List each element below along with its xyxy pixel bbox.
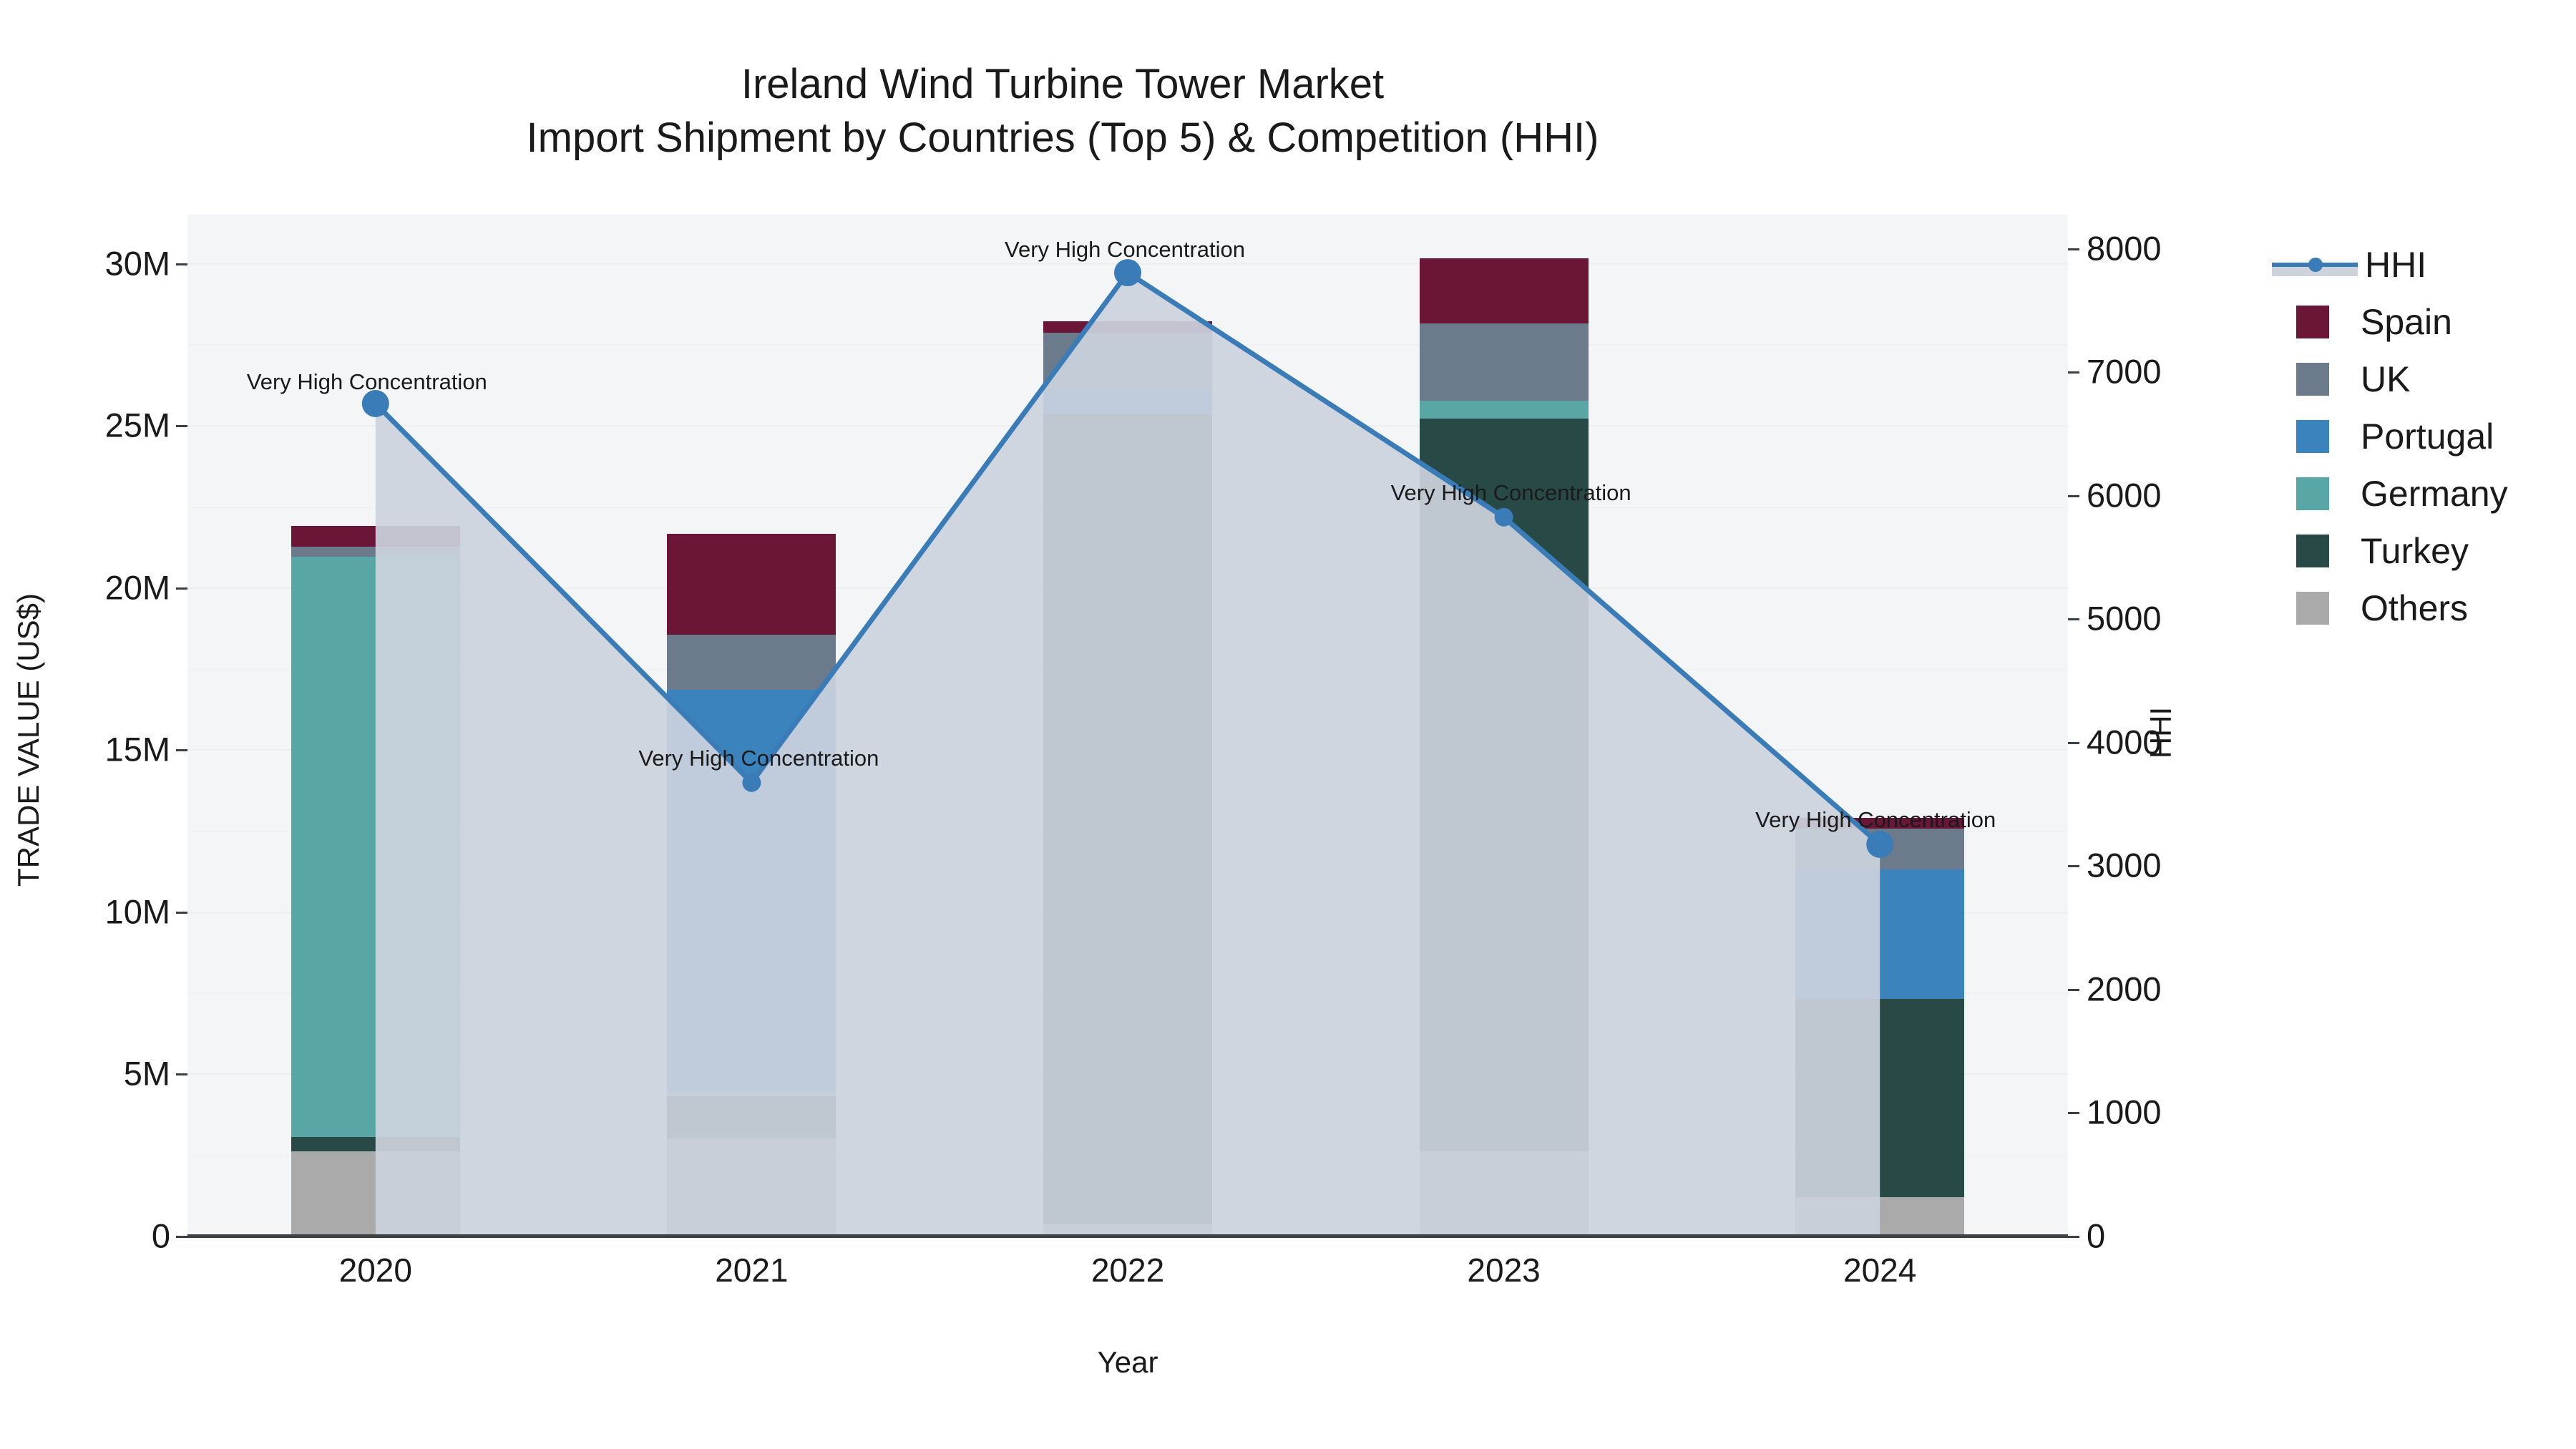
legend-item-uk[interactable]: UK [2272, 351, 2572, 408]
legend-line-dot [2308, 258, 2323, 272]
legend-swatch-spain [2296, 306, 2329, 338]
legend-item-portugal[interactable]: Portugal [2272, 408, 2572, 465]
hhi-marker-2024[interactable] [1866, 831, 1893, 858]
legend-label-germany: Germany [2361, 473, 2508, 514]
y-right-tickmark [2068, 1236, 2079, 1238]
y-right-tickmark [2068, 495, 2079, 497]
legend-item-germany[interactable]: Germany [2272, 465, 2572, 522]
x-tick-2022: 2022 [1091, 1251, 1164, 1289]
y-right-tickmark [2068, 865, 2079, 867]
legend-item-turkey[interactable]: Turkey [2272, 522, 2572, 580]
x-axis-title: Year [187, 1345, 2068, 1380]
legend-label-turkey: Turkey [2361, 530, 2469, 572]
chart-title-line-2: Import Shipment by Countries (Top 5) & C… [0, 111, 2125, 165]
legend-item-others[interactable]: Others [2272, 580, 2572, 637]
y-right-tickmark [2068, 742, 2079, 744]
y-right-tick-2000: 2000 [2087, 969, 2162, 1008]
y-axis-left-title: TRADE VALUE (US$) [11, 311, 46, 1169]
legend-label-others: Others [2361, 587, 2468, 629]
y-left-tickmark [176, 587, 187, 590]
y-right-tick-8000: 8000 [2087, 228, 2162, 268]
chart-legend: HHISpainUKPortugalGermanyTurkeyOthers [2272, 236, 2572, 637]
annotation-very-high-concentration-2024: Very High Concentration [1755, 807, 1996, 833]
chart-figure: Ireland Wind Turbine Tower Market Import… [0, 0, 2576, 1449]
annotation-very-high-concentration-2023: Very High Concentration [1391, 480, 1631, 506]
y-right-tick-6000: 6000 [2087, 475, 2162, 514]
y-right-tick-0: 0 [2087, 1216, 2105, 1256]
legend-swatch-others [2296, 592, 2329, 625]
y-left-tick-15M: 15M [43, 730, 170, 769]
plot-area: Very High ConcentrationVery High Concent… [187, 215, 2068, 1236]
y-left-tick-0: 0 [43, 1216, 170, 1256]
y-left-tickmark [176, 425, 187, 427]
y-right-tickmark [2068, 1112, 2079, 1114]
y-left-tick-5M: 5M [43, 1054, 170, 1093]
y-left-tickmark [176, 749, 187, 751]
y-right-tickmark [2068, 989, 2079, 991]
legend-label-spain: Spain [2361, 301, 2452, 343]
y-left-tickmark [176, 912, 187, 914]
y-right-tick-1000: 1000 [2087, 1093, 2162, 1132]
x-axis-line [187, 1234, 2068, 1238]
hhi-line-overlay [187, 215, 2068, 1236]
y-left-tickmark [176, 263, 187, 265]
legend-label-uk: UK [2361, 358, 2410, 400]
hhi-marker-2022[interactable] [1114, 259, 1141, 286]
y-right-tickmark [2068, 248, 2079, 250]
x-tick-2024: 2024 [1843, 1251, 1916, 1289]
y-left-tickmark [176, 1236, 187, 1238]
legend-label-portugal: Portugal [2361, 416, 2494, 457]
chart-title: Ireland Wind Turbine Tower Market Import… [0, 57, 2125, 165]
y-left-tick-30M: 30M [43, 243, 170, 283]
legend-swatch-turkey [2296, 535, 2329, 567]
y-right-tickmark [2068, 618, 2079, 620]
annotation-very-high-concentration-2020: Very High Concentration [247, 369, 487, 395]
legend-swatch-germany [2296, 477, 2329, 510]
y-axis-right-title: HHI [2144, 590, 2178, 876]
y-right-tick-7000: 7000 [2087, 352, 2162, 391]
legend-item-spain[interactable]: Spain [2272, 293, 2572, 351]
hhi-area-fill [376, 273, 1880, 1236]
x-tick-2020: 2020 [339, 1251, 412, 1289]
y-left-tick-25M: 25M [43, 406, 170, 445]
y-right-tickmark [2068, 371, 2079, 374]
chart-title-line-1: Ireland Wind Turbine Tower Market [0, 57, 2125, 111]
legend-line-marker-icon [2272, 248, 2358, 281]
annotation-very-high-concentration-2021: Very High Concentration [638, 746, 879, 771]
legend-label-hhi: HHI [2365, 244, 2426, 286]
legend-item-hhi[interactable]: HHI [2272, 236, 2572, 293]
hhi-marker-2021[interactable] [742, 774, 761, 792]
y-left-tick-10M: 10M [43, 892, 170, 931]
x-tick-2021: 2021 [715, 1251, 788, 1289]
y-left-tickmark [176, 1073, 187, 1075]
x-tick-2023: 2023 [1467, 1251, 1540, 1289]
y-left-tick-20M: 20M [43, 567, 170, 607]
legend-swatch-uk [2296, 363, 2329, 396]
hhi-marker-2023[interactable] [1495, 508, 1513, 527]
annotation-very-high-concentration-2022: Very High Concentration [1005, 237, 1245, 263]
legend-swatch-portugal [2296, 420, 2329, 453]
